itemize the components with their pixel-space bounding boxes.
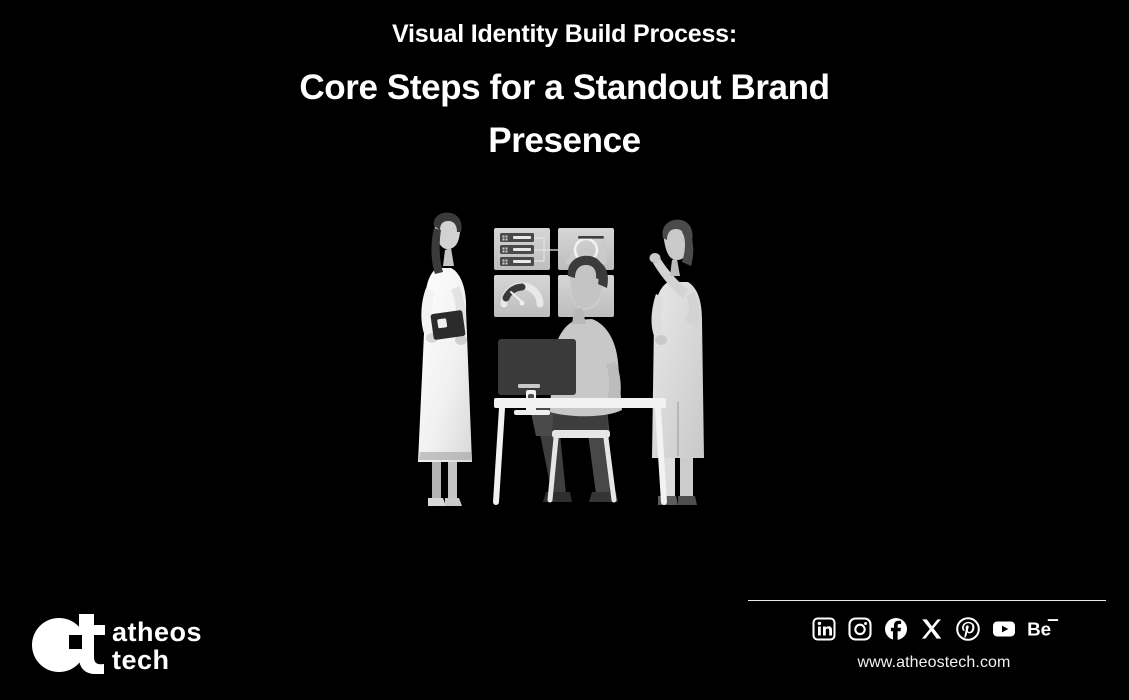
logo-wordmark: atheos tech — [112, 617, 202, 674]
footer-divider — [748, 600, 1106, 601]
behance-icon[interactable]: Be — [1028, 617, 1060, 641]
footer-right: Be www.atheostech.com — [748, 600, 1106, 672]
team-workspace-illustration — [410, 212, 720, 512]
slide-canvas: Visual Identity Build Process: Core Step… — [0, 0, 1129, 700]
x-twitter-icon[interactable] — [920, 617, 944, 641]
title-eyebrow: Visual Identity Build Process: — [0, 22, 1129, 47]
linkedin-icon[interactable] — [812, 617, 836, 641]
website-url[interactable]: www.atheostech.com — [748, 654, 1106, 672]
pinterest-icon[interactable] — [956, 617, 980, 641]
facebook-icon[interactable] — [884, 617, 908, 641]
title-block: Visual Identity Build Process: Core Step… — [0, 22, 1129, 167]
svg-text:Be: Be — [1028, 619, 1051, 640]
speedometer-panel — [494, 275, 550, 317]
instagram-icon[interactable] — [848, 617, 872, 641]
social-links: Be — [748, 617, 1106, 641]
woman-presenting — [650, 220, 705, 505]
youtube-icon[interactable] — [992, 617, 1016, 641]
brand-logo[interactable]: atheos tech — [28, 608, 228, 674]
at-monogram-icon — [32, 614, 105, 674]
logo-line-2: tech — [112, 645, 170, 674]
woman-with-tablet — [418, 213, 472, 506]
server-list-panel — [494, 228, 562, 270]
page-title: Core Steps for a Standout Brand Presence — [265, 61, 865, 167]
logo-line-1: atheos — [112, 617, 202, 647]
